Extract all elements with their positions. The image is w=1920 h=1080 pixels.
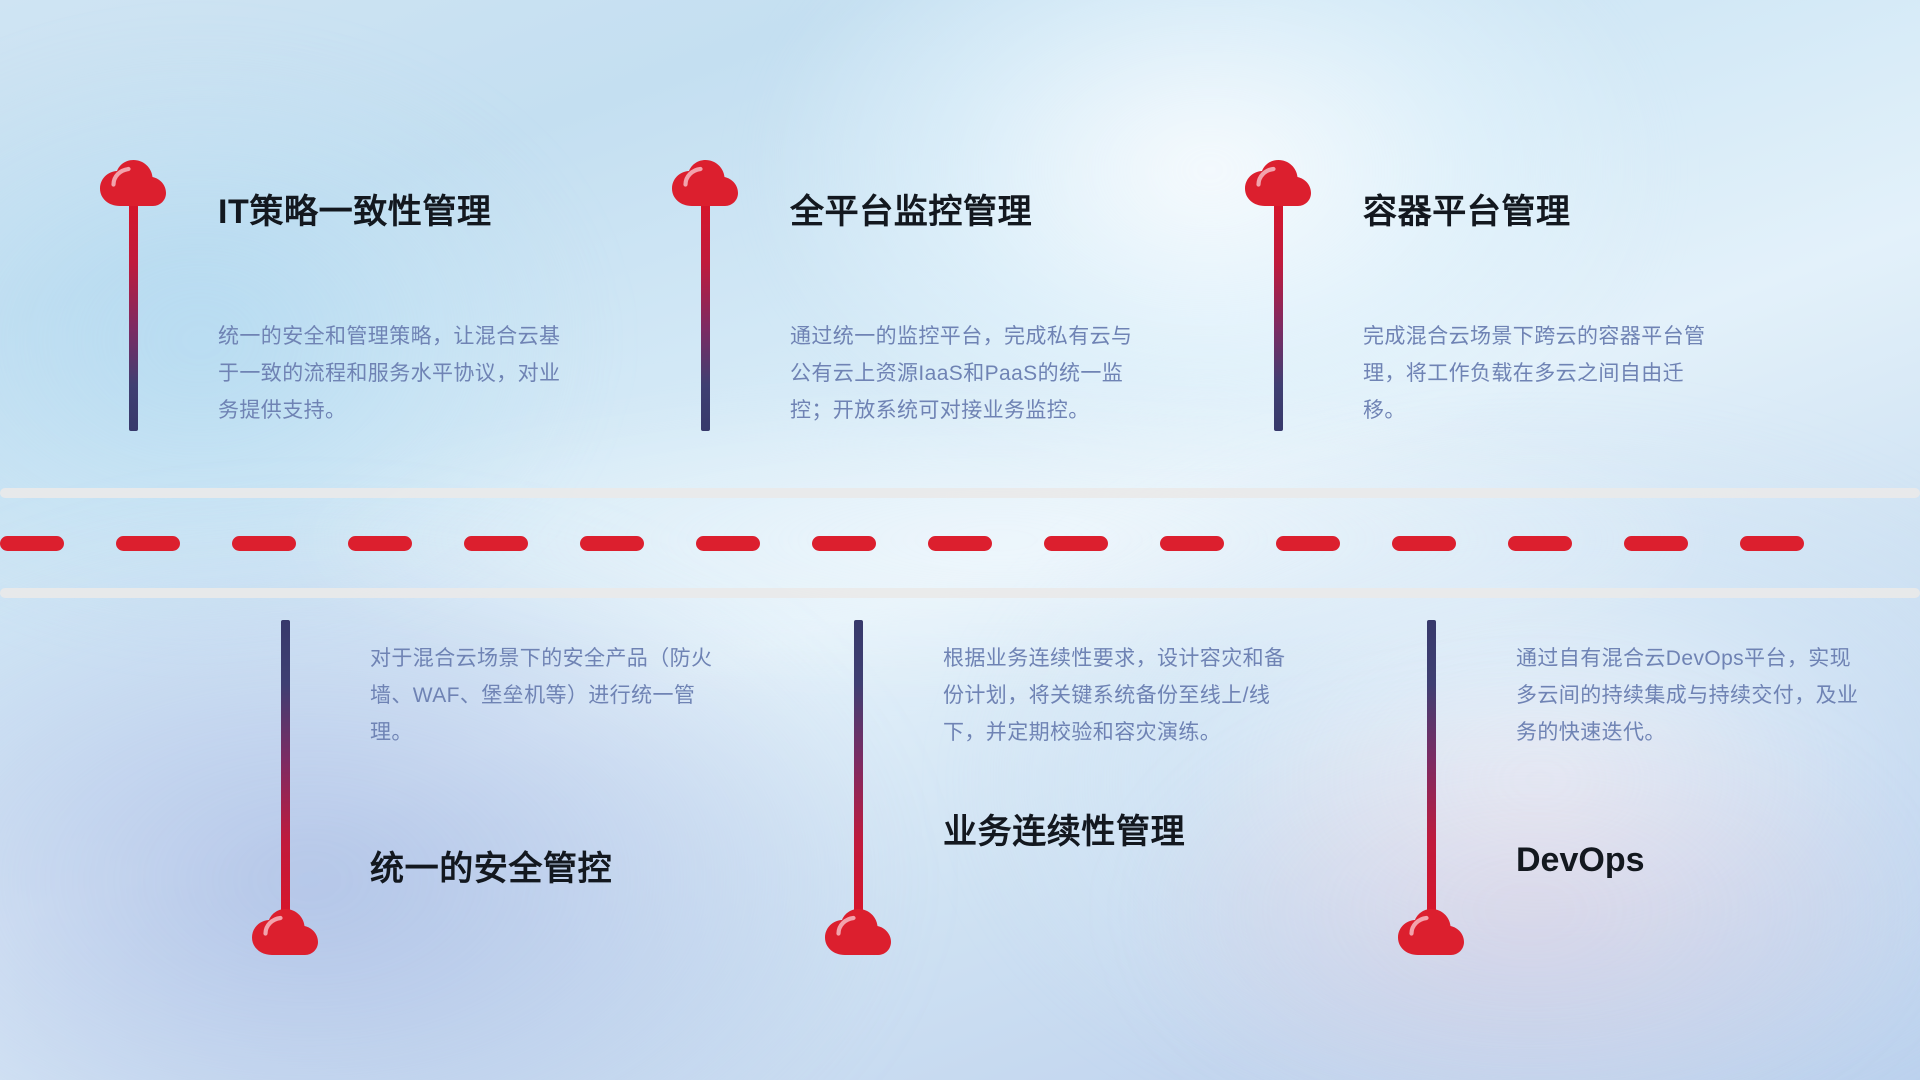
road-dash xyxy=(348,536,412,551)
card-body: 根据业务连续性要求，设计容灾和备份计划，将关键系统备份至线上/线下，并定期校验和… xyxy=(943,640,1293,751)
card-body: 通过统一的监控平台，完成私有云与公有云上资源IaaS和PaaS的统一监控；开放系… xyxy=(790,318,1140,429)
cloud-icon xyxy=(1398,909,1464,955)
top-column-1: IT策略一致性管理 统一的安全和管理策略，让混合云基于一致的流程和服务水平协议，… xyxy=(100,160,570,431)
road-dash xyxy=(116,536,180,551)
card-body: 完成混合云场景下跨云的容器平台管理，将工作负载在多云之间自由迁移。 xyxy=(1363,318,1713,429)
road-edge-top xyxy=(0,488,1920,498)
cloud-icon xyxy=(825,909,891,955)
road-dash xyxy=(232,536,296,551)
cloud-icon xyxy=(252,909,318,955)
card-heading: IT策略一致性管理 xyxy=(218,184,568,233)
road-dash xyxy=(1624,536,1688,551)
road-dash xyxy=(1740,536,1804,551)
road-dash-strip xyxy=(0,535,1920,551)
connector-stem xyxy=(701,203,710,431)
card-heading: 容器平台管理 xyxy=(1363,184,1713,233)
card-body: 对于混合云场景下的安全产品（防火墙、WAF、堡垒机等）进行统一管理。 xyxy=(370,640,720,751)
road-dash xyxy=(1160,536,1224,551)
road-dash xyxy=(928,536,992,551)
connector-stem xyxy=(129,203,138,431)
top-column-3: 容器平台管理 完成混合云场景下跨云的容器平台管理，将工作负载在多云之间自由迁移。 xyxy=(1245,160,1715,431)
bottom-column-1: 对于混合云场景下的安全产品（防火墙、WAF、堡垒机等）进行统一管理。 统一的安全… xyxy=(252,620,722,955)
cloud-icon xyxy=(672,160,738,206)
connector-stem xyxy=(1427,620,1436,912)
road-dash xyxy=(0,536,64,551)
bottom-column-2: 根据业务连续性要求，设计容灾和备份计划，将关键系统备份至线上/线下，并定期校验和… xyxy=(825,620,1295,955)
road-dash xyxy=(1276,536,1340,551)
road-dash xyxy=(1044,536,1108,551)
card-heading: DevOps xyxy=(1516,841,1866,880)
card-body: 统一的安全和管理策略，让混合云基于一致的流程和服务水平协议，对业务提供支持。 xyxy=(218,318,568,429)
road-dash xyxy=(812,536,876,551)
road-dash xyxy=(696,536,760,551)
road-dash xyxy=(580,536,644,551)
card-heading: 统一的安全管控 xyxy=(370,841,720,890)
road-edge-bottom xyxy=(0,588,1920,598)
road-dash xyxy=(1508,536,1572,551)
card-heading: 全平台监控管理 xyxy=(790,184,1140,233)
connector-stem xyxy=(281,620,290,912)
road-divider xyxy=(0,488,1920,598)
card-heading: 业务连续性管理 xyxy=(943,804,1293,853)
road-dash xyxy=(464,536,528,551)
connector-stem xyxy=(1274,203,1283,431)
card-body: 通过自有混合云DevOps平台，实现多云间的持续集成与持续交付，及业务的快速迭代… xyxy=(1516,640,1866,751)
cloud-icon xyxy=(1245,160,1311,206)
bottom-column-3: 通过自有混合云DevOps平台，实现多云间的持续集成与持续交付，及业务的快速迭代… xyxy=(1398,620,1868,955)
connector-stem xyxy=(854,620,863,912)
cloud-icon xyxy=(100,160,166,206)
top-column-2: 全平台监控管理 通过统一的监控平台，完成私有云与公有云上资源IaaS和PaaS的… xyxy=(672,160,1142,431)
road-dash xyxy=(1392,536,1456,551)
infographic-canvas: IT策略一致性管理 统一的安全和管理策略，让混合云基于一致的流程和服务水平协议，… xyxy=(0,0,1920,1080)
